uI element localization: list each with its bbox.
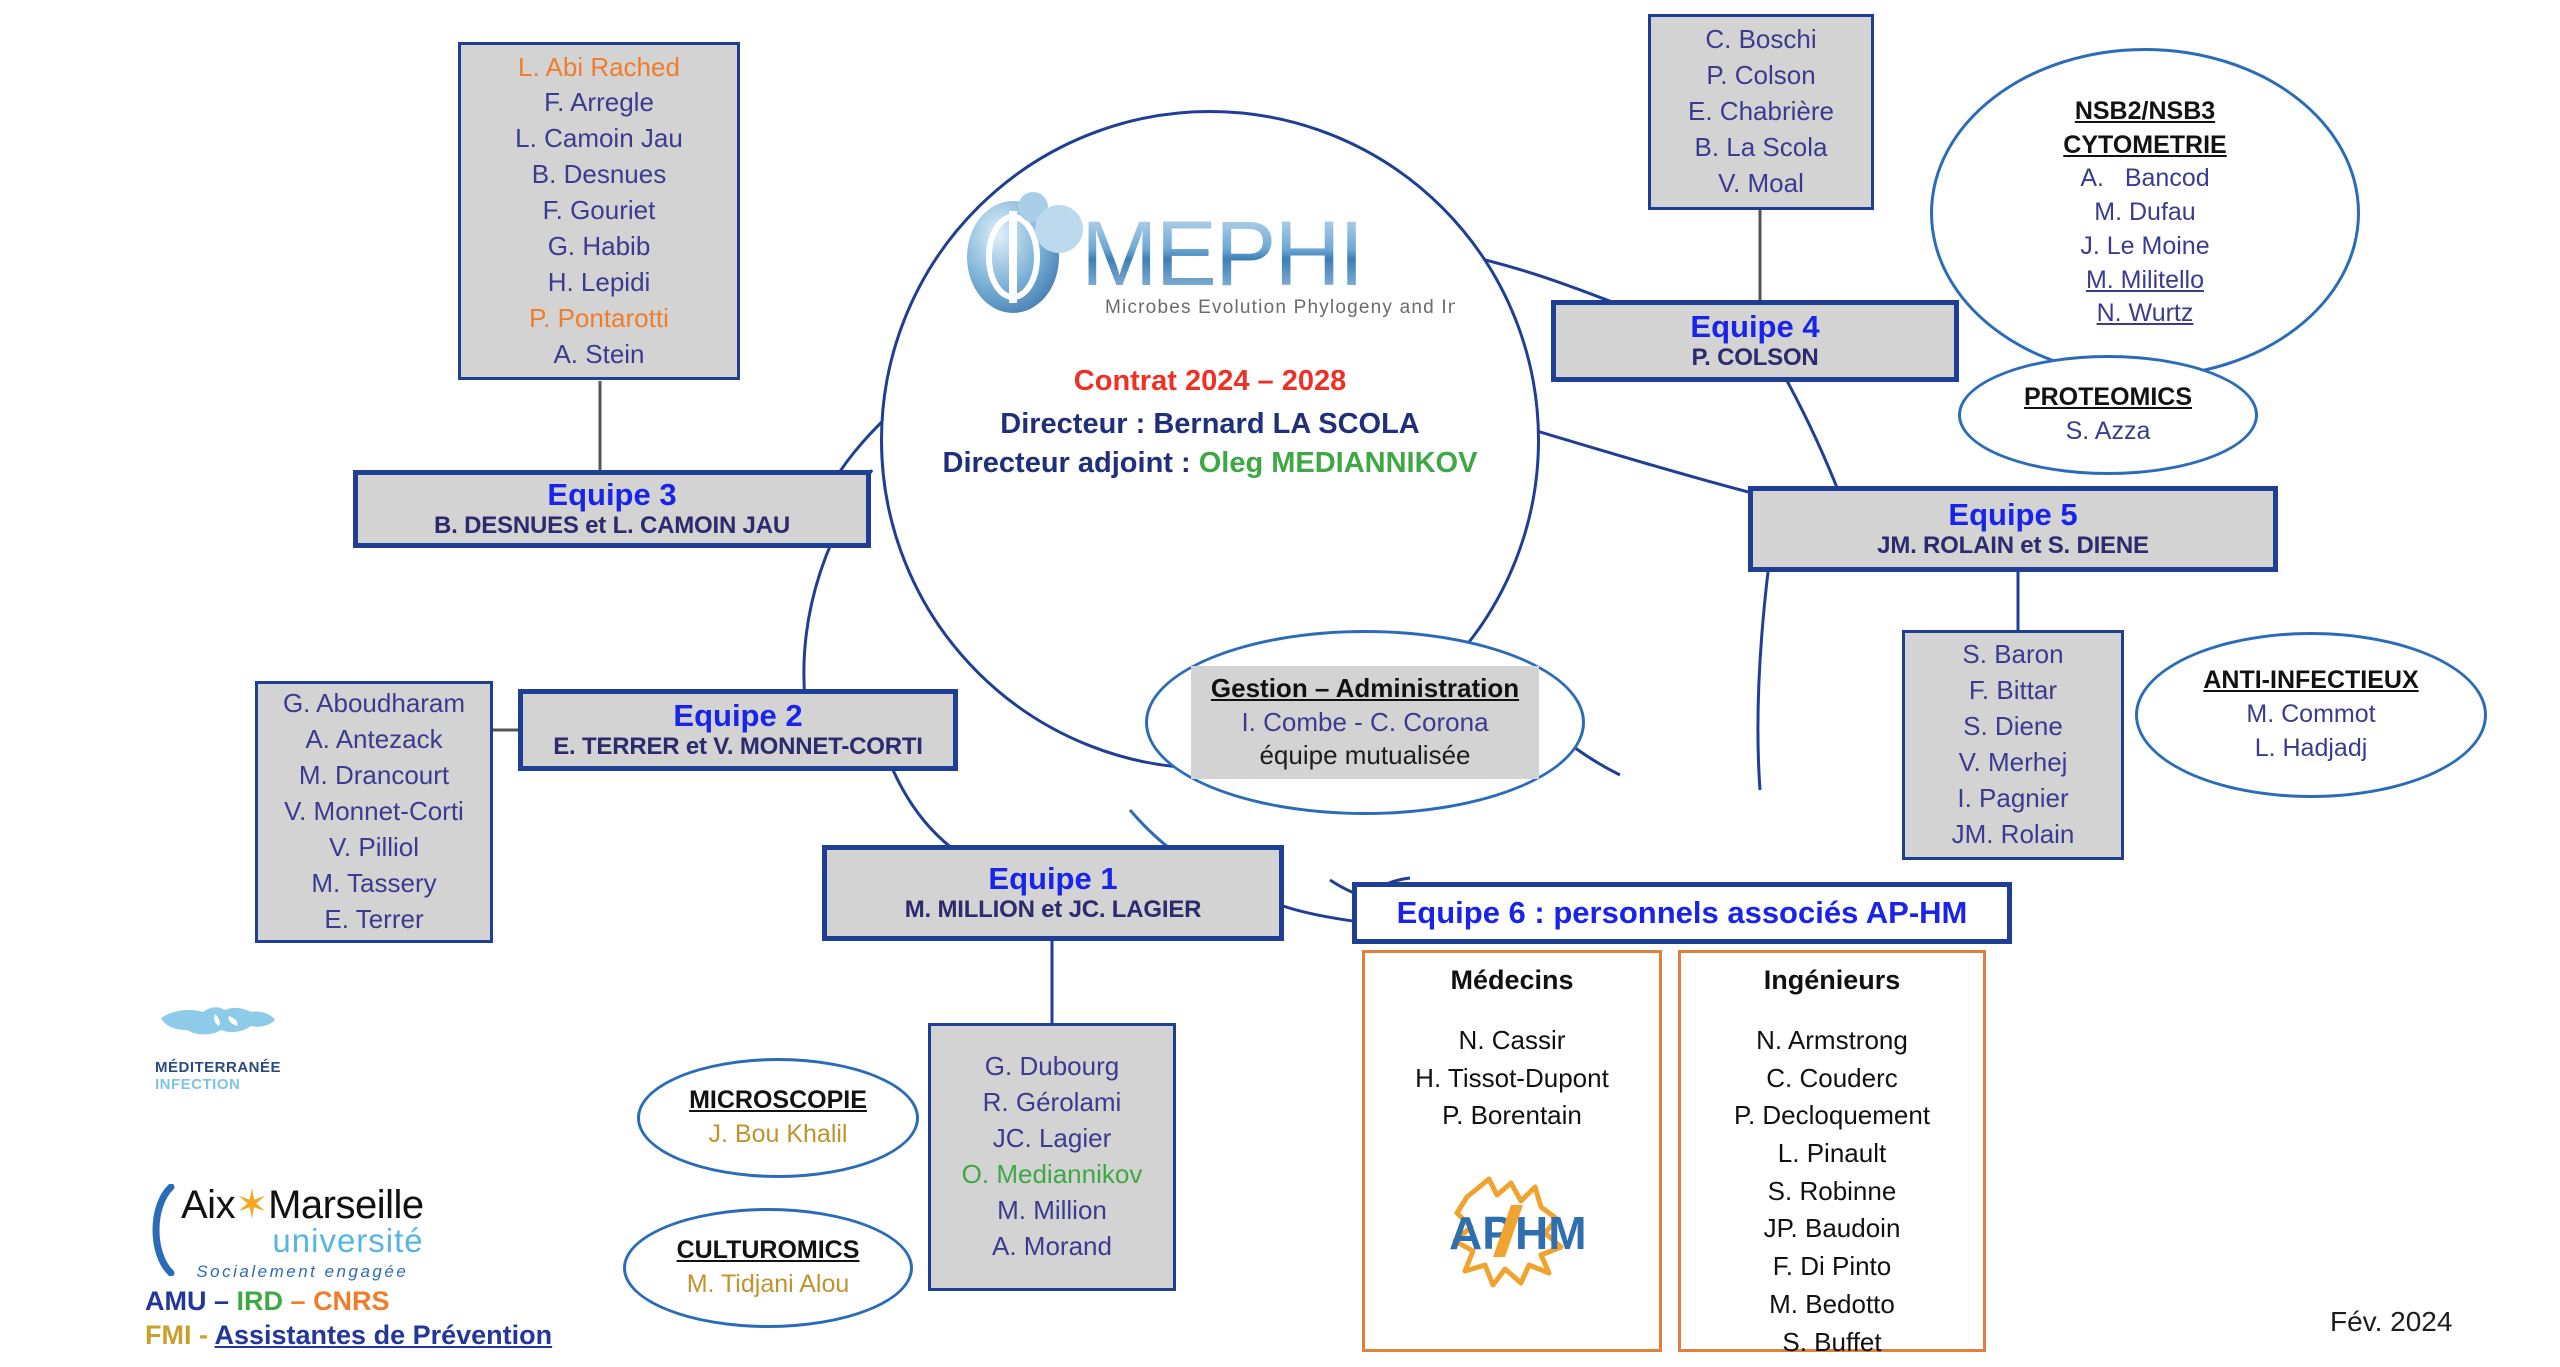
member-name: V. Moal	[1718, 166, 1804, 202]
svg-text:MEPHI: MEPHI	[1081, 203, 1362, 305]
member-name: P. Colson	[1706, 58, 1815, 94]
member-name: M. Tidjani Alou	[687, 1268, 850, 1302]
gestion-note: équipe mutualisée	[1211, 739, 1519, 773]
member-name: M. Bedotto	[1769, 1286, 1895, 1324]
member-name: P. Decloquement	[1734, 1097, 1930, 1135]
equipe6-title: Equipe 6 : personnels associés AP-HM	[1397, 895, 1968, 931]
gestion-panel: Gestion – Administration I. Combe - C. C…	[1191, 666, 1539, 779]
footer-fmi: FMI	[145, 1320, 192, 1350]
ingenieurs-heading: Ingénieurs	[1764, 965, 1901, 996]
equipe1-members-box: G. Dubourg R. Gérolami JC. Lagier O. Med…	[928, 1023, 1176, 1291]
member-name: P. Borentain	[1442, 1097, 1582, 1135]
member-name: E. Chabrière	[1688, 94, 1834, 130]
equipe5-title: Equipe 5	[1948, 497, 2077, 533]
equipe5-title-box[interactable]: Equipe 5 JM. ROLAIN et S. DIENE	[1748, 486, 2278, 572]
member-name: I. Pagnier	[1957, 781, 2068, 817]
nsb-heading-line1: NSB2/NSB3	[2075, 95, 2215, 129]
mephi-logo: MEPHI Microbes Evolution Phylogeny and I…	[955, 185, 1455, 325]
equipe4-members-box: C. Boschi P. Colson E. Chabrière B. La S…	[1648, 14, 1874, 210]
member-name: S. Diene	[1963, 709, 2063, 745]
member-name: V. Monnet-Corti	[284, 794, 464, 830]
member-name: A. Stein	[553, 337, 644, 373]
member-name: A. Bancod	[2080, 162, 2209, 196]
equipe2-leads: E. TERRER et V. MONNET-CORTI	[553, 733, 923, 762]
member-name: V. Pilliol	[329, 830, 419, 866]
member-name: O. Mediannikov	[962, 1157, 1143, 1193]
member-name: M. Million	[997, 1193, 1107, 1229]
equipe6-ingenieurs-box: Ingénieurs N. Armstrong C. Couderc P. De…	[1678, 950, 1986, 1352]
aix-marseille-universite-logo: Aix✶Marseille université Socialement eng…	[145, 1182, 475, 1282]
anti-infectieux-ellipse: ANTI-INFECTIEUX M. Commot L. Hadjadj	[2135, 632, 2487, 798]
gestion-heading: Gestion – Administration	[1211, 672, 1519, 706]
culturomics-heading: CULTUROMICS	[677, 1234, 860, 1268]
footer-prevention-line: FMI - Assistantes de Prévention	[145, 1320, 552, 1351]
mediterranee-map-icon	[155, 1002, 280, 1052]
nsb-cytometrie-ellipse: NSB2/NSB3 CYTOMETRIE A. Bancod M. Dufau …	[1930, 48, 2360, 378]
member-name: J. Le Moine	[2080, 230, 2209, 264]
member-name: P. Pontarotti	[529, 301, 669, 337]
footer-ird: IRD	[237, 1286, 284, 1316]
member-name: L. Hadjadj	[2255, 732, 2368, 766]
member-name: H. Tissot-Dupont	[1415, 1060, 1609, 1098]
svg-text:Microbes Evolution Phylogeny a: Microbes Evolution Phylogeny and Infecti…	[1105, 297, 1455, 318]
gestion-administration-ellipse: Gestion – Administration I. Combe - C. C…	[1145, 630, 1585, 815]
footer-cnrs: CNRS	[313, 1286, 390, 1316]
equipe6-title-box[interactable]: Equipe 6 : personnels associés AP-HM	[1352, 882, 2012, 944]
member-name: C. Couderc	[1766, 1060, 1898, 1098]
equipe1-title-box[interactable]: Equipe 1 M. MILLION et JC. LAGIER	[822, 845, 1284, 941]
equipe3-leads: B. DESNUES et L. CAMOIN JAU	[434, 512, 790, 541]
footer-sep: -	[192, 1320, 215, 1350]
member-name: S. Buffet	[1782, 1324, 1881, 1362]
member-name: E. Terrer	[324, 902, 423, 938]
member-name: C. Boschi	[1705, 22, 1816, 58]
proteomics-ellipse: PROTEOMICS S. Azza	[1958, 355, 2258, 475]
amu-bracket-icon	[145, 1184, 177, 1276]
member-name: F. Arregle	[544, 85, 654, 121]
member-name: JP. Baudoin	[1764, 1210, 1901, 1248]
equipe5-members-box: S. Baron F. Bittar S. Diene V. Merhej I.…	[1902, 630, 2124, 860]
equipe3-title-box[interactable]: Equipe 3 B. DESNUES et L. CAMOIN JAU	[353, 470, 871, 548]
mediterranee-label-line1: MÉDITERRANÉE	[155, 1059, 280, 1076]
member-name: M. Commot	[2246, 698, 2375, 732]
equipe6-medecins-box: Médecins N. Cassir H. Tissot-Dupont P. B…	[1362, 950, 1662, 1352]
proteomics-heading: PROTEOMICS	[2024, 381, 2192, 415]
contract-label: Contrat 2024 – 2028	[880, 365, 1540, 398]
member-name: H. Lepidi	[548, 265, 651, 301]
culturomics-ellipse: CULTUROMICS M. Tidjani Alou	[623, 1208, 913, 1328]
member-name: F. Di Pinto	[1773, 1248, 1892, 1286]
equipe1-title: Equipe 1	[988, 861, 1117, 897]
ap-hm-logo: AP HM	[1437, 1161, 1587, 1306]
member-name: B. Desnues	[532, 157, 666, 193]
member-name: S. Baron	[1962, 637, 2063, 673]
director-label: Directeur : Bernard LA SCOLA	[880, 408, 1540, 441]
footer-assistantes-prevention: Assistantes de Prévention	[215, 1320, 553, 1350]
equipe4-title: Equipe 4	[1690, 309, 1819, 345]
equipe4-title-box[interactable]: Equipe 4 P. COLSON	[1551, 300, 1959, 382]
footer-amu: AMU	[145, 1286, 207, 1316]
member-name: A. Morand	[992, 1229, 1112, 1265]
member-name: N. Cassir	[1459, 1022, 1566, 1060]
member-name: N. Wurtz	[2097, 297, 2194, 331]
member-name: B. La Scola	[1695, 130, 1828, 166]
member-name: G. Aboudharam	[283, 686, 465, 722]
member-name: G. Dubourg	[985, 1049, 1119, 1085]
footer-partners-line: AMU – IRD – CNRS	[145, 1286, 390, 1317]
anti-infectieux-heading: ANTI-INFECTIEUX	[2203, 664, 2418, 698]
center-text-block: Contrat 2024 – 2028 Directeur : Bernard …	[880, 365, 1540, 480]
equipe4-leads: P. COLSON	[1691, 344, 1818, 373]
equipe2-title-box[interactable]: Equipe 2 E. TERRER et V. MONNET-CORTI	[518, 689, 958, 771]
member-name: JM. Rolain	[1952, 817, 2075, 853]
gestion-names: I. Combe - C. Corona	[1211, 706, 1519, 740]
member-name: S. Azza	[2066, 415, 2151, 449]
footer-sep: –	[207, 1286, 237, 1316]
equipe1-leads: M. MILLION et JC. LAGIER	[905, 896, 1202, 925]
member-name: A. Antezack	[305, 722, 442, 758]
member-name: R. Gérolami	[983, 1085, 1122, 1121]
equipe3-members-box: L. Abi Rached F. Arregle L. Camoin Jau B…	[458, 42, 740, 380]
member-name: V. Merhej	[1959, 745, 2068, 781]
member-name: M. Militello	[2086, 264, 2204, 298]
mediterranee-infection-logo: MÉDITERRANÉE INFECTION	[155, 1002, 280, 1074]
member-name: G. Habib	[548, 229, 651, 265]
member-name: M. Drancourt	[299, 758, 449, 794]
member-name: N. Armstrong	[1756, 1022, 1908, 1060]
mediterranee-label-line2: INFECTION	[155, 1076, 280, 1093]
nsb-heading-line2: CYTOMETRIE	[2063, 129, 2226, 163]
equipe2-title: Equipe 2	[673, 698, 802, 734]
medecins-heading: Médecins	[1450, 965, 1573, 996]
amu-tagline: Socialement engagée	[181, 1262, 424, 1282]
member-name: JC. Lagier	[993, 1121, 1112, 1157]
member-name: F. Bittar	[1969, 673, 2057, 709]
date-label: Fév. 2024	[2330, 1306, 2452, 1338]
member-name: L. Abi Rached	[518, 50, 680, 86]
footer-sep: –	[283, 1286, 313, 1316]
equipe2-members-box: G. Aboudharam A. Antezack M. Drancourt V…	[255, 681, 493, 943]
equipe5-leads: JM. ROLAIN et S. DIENE	[1877, 532, 2149, 561]
member-name: F. Gouriet	[543, 193, 656, 229]
member-name: M. Dufau	[2094, 196, 2195, 230]
svg-text:HM: HM	[1515, 1207, 1587, 1259]
deputy-director-label: Directeur adjoint : Oleg MEDIANNIKOV	[880, 447, 1540, 480]
microscopie-ellipse: MICROSCOPIE J. Bou Khalil	[637, 1058, 919, 1178]
equipe3-title: Equipe 3	[547, 477, 676, 513]
microscopie-heading: MICROSCOPIE	[689, 1084, 867, 1118]
amu-star-icon: ✶	[235, 1183, 268, 1227]
member-name: S. Robinne	[1768, 1173, 1897, 1211]
member-name: M. Tassery	[311, 866, 436, 902]
deputy-director-name: Oleg MEDIANNIKOV	[1199, 447, 1478, 479]
member-name: J. Bou Khalil	[709, 1118, 848, 1152]
member-name: L. Pinault	[1778, 1135, 1886, 1173]
member-name: L. Camoin Jau	[515, 121, 683, 157]
